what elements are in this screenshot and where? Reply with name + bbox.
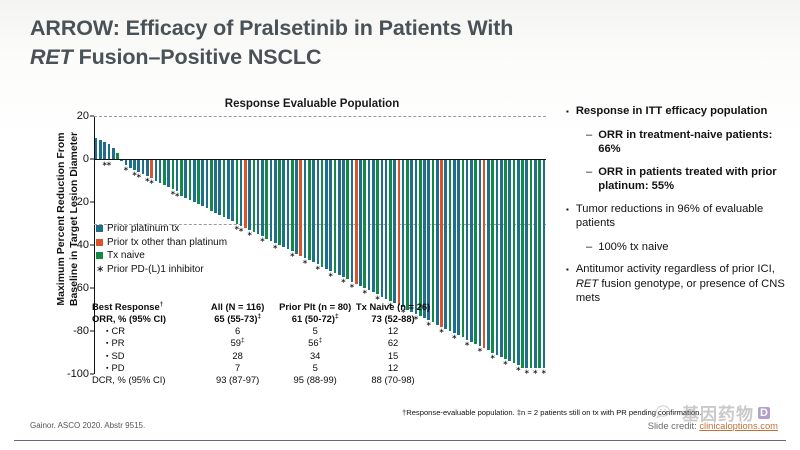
waterfall-bar (423, 159, 426, 318)
waterfall-bar (346, 159, 349, 279)
table-cell: 6 (199, 325, 276, 337)
table-cell: 59‡ (199, 337, 276, 349)
bullet-square-icon: ▪ (106, 328, 108, 335)
legend-label: Prior tx other than platinum (107, 236, 227, 250)
waterfall-bar (295, 159, 298, 254)
bullet-square-icon: ▪ (566, 104, 569, 119)
table-row: DCR, % (95% CI)93 (87-97)95 (88-99)88 (7… (92, 374, 432, 386)
waterfall-bar (355, 159, 358, 284)
waterfall-bar (483, 159, 486, 348)
legend-item-1: Prior tx other than platinum (96, 236, 227, 250)
waterfall-bar (530, 159, 533, 368)
waterfall-bar (521, 159, 524, 368)
cell-footnote-marker: ‡ (319, 337, 323, 344)
waterfall-bar (155, 159, 158, 181)
table-cell: 65 (55-73)‡ (199, 312, 276, 324)
bullet-square-icon: ▪ (106, 340, 108, 347)
table-cell: 73 (52-88) (354, 312, 432, 324)
waterfall-bar (496, 159, 499, 355)
waterfall-bar (474, 159, 477, 344)
bullet-text: Antitumor activity regardless of prior I… (576, 262, 790, 306)
table-cell: 61 (50-72)‡ (276, 312, 354, 324)
waterfall-bar (99, 140, 102, 159)
table-header-cell: All (N = 116) (199, 300, 276, 312)
reference-line-20 (94, 116, 546, 117)
table-row-label: DCR, % (95% CI) (92, 374, 199, 386)
waterfall-bar (103, 142, 106, 159)
slide-credit: Slide credit: clinicaloptions.com (648, 420, 778, 431)
citation-text: Gainor. ASCO 2020. Abstr 9515. (30, 421, 145, 430)
bullet-gene-name: RET (576, 278, 598, 290)
waterfall-bar (432, 159, 435, 322)
waterfall-bar (317, 159, 320, 264)
y-axis-tick--60: -60 (73, 282, 89, 294)
waterfall-bar (236, 159, 239, 224)
waterfall-bar (444, 159, 447, 329)
table-cell: 62 (354, 337, 432, 349)
bullet-item-2: –ORR in patients treated with prior plat… (586, 165, 790, 194)
bullet-dash-icon: – (586, 128, 592, 157)
waterfall-bar (308, 159, 311, 260)
waterfall-bar (282, 159, 285, 247)
wechat-icon (656, 404, 678, 422)
bullet-item-1: –ORR in treatment-naive patients: 66% (586, 128, 790, 157)
y-axis-tick--100: -100 (67, 368, 89, 380)
y-axis-tick--80: -80 (73, 325, 89, 337)
waterfall-bar (385, 159, 388, 299)
waterfall-bar (376, 159, 379, 294)
waterfall-bar (491, 159, 494, 353)
bullet-dash-icon: – (586, 165, 592, 194)
table-header-row: Best Response†All (N = 116)Prior Plt (n … (92, 300, 432, 312)
waterfall-bar (240, 159, 243, 226)
waterfall-bar (206, 159, 209, 208)
title-line-1: ARROW: Efficacy of Pralsetinib in Patien… (30, 14, 770, 43)
y-axis-label-line-1: Maximum Percent Reduction From (55, 132, 67, 305)
title-line-2: RET Fusion–Positive NSCLC (30, 43, 770, 72)
waterfall-bar (393, 159, 396, 303)
waterfall-bar (304, 159, 307, 258)
response-table: Best Response†All (N = 116)Prior Plt (n … (92, 300, 432, 386)
summary-bullets: ▪Response in ITT efficacy population–ORR… (566, 104, 790, 315)
legend-label: Prior platinum tx (107, 222, 179, 236)
slide-credit-url[interactable]: clinicaloptions.com (699, 420, 778, 431)
waterfall-bar (500, 159, 503, 357)
waterfall-bar (321, 159, 324, 267)
bullet-text: Tumor reductions in 96% of evaluable pat… (576, 202, 790, 231)
table-row-label: ▪CR (92, 325, 199, 337)
waterfall-bar (142, 159, 145, 174)
bullet-text: ORR in patients treated with prior plati… (598, 165, 790, 194)
watermark-badge: D (758, 407, 770, 419)
cell-footnote-marker: ‡ (257, 313, 261, 320)
table-cell: 95 (88-99) (276, 374, 354, 386)
chart-title: Response Evaluable Population (97, 98, 527, 110)
bullet-square-icon: ▪ (106, 365, 108, 372)
waterfall-bar (363, 159, 366, 288)
y-axis-tick-0: 0 (83, 153, 89, 165)
zero-axis-line (94, 159, 546, 160)
waterfall-bar (223, 159, 226, 217)
cell-footnote-marker: ‡ (335, 313, 339, 320)
waterfall-bar (543, 159, 546, 368)
waterfall-bar (525, 159, 528, 368)
waterfall-bar (227, 159, 230, 219)
table-header-cell: Tx Naive (n = 26) (354, 300, 432, 312)
waterfall-bar (244, 159, 247, 228)
table-cell: 5 (276, 361, 354, 373)
waterfall-bar (504, 159, 507, 359)
waterfall-bar (146, 159, 149, 176)
bullet-item-5: ▪Antitumor activity regardless of prior … (566, 262, 790, 306)
title-gene-name: RET (30, 45, 73, 69)
waterfall-bar (534, 159, 537, 368)
prior-pd-l1-marker: ∗ (541, 369, 547, 376)
waterfall-bar (449, 159, 452, 331)
table-cell: 93 (87-97) (199, 374, 276, 386)
waterfall-bar (184, 159, 187, 198)
waterfall-bar (440, 159, 443, 327)
waterfall-bar (214, 159, 217, 213)
waterfall-bar (508, 159, 511, 361)
waterfall-bar (274, 159, 277, 243)
legend-swatch-icon (96, 252, 103, 259)
prior-pd-l1-marker: ∗ (106, 161, 112, 168)
waterfall-bar (159, 159, 162, 183)
table-header-cell: Prior Plt (n = 80) (276, 300, 354, 312)
legend-asterisk-icon: ∗ (96, 263, 103, 277)
waterfall-bar (410, 159, 413, 312)
y-axis-label: Maximum Percent Reduction From Baseline … (55, 104, 81, 334)
bullet-item-3: ▪Tumor reductions in 96% of evaluable pa… (566, 202, 790, 231)
waterfall-bar (265, 159, 268, 239)
waterfall-bar (167, 159, 170, 187)
waterfall-bar (517, 159, 520, 365)
waterfall-bar (470, 159, 473, 342)
waterfall-bar (419, 159, 422, 316)
table-row: ▪SD283415 (92, 349, 432, 361)
waterfall-bar (112, 148, 115, 159)
legend-swatch-icon (96, 239, 103, 246)
waterfall-bar (457, 159, 460, 335)
bullet-item-0: ▪Response in ITT efficacy population (566, 104, 790, 119)
legend-item-0: Prior platinum tx (96, 222, 227, 236)
waterfall-bar (163, 159, 166, 185)
table-row-label: ▪SD (92, 349, 199, 361)
table-cell: 56‡ (276, 337, 354, 349)
table-row: ▪CR6512 (92, 325, 432, 337)
waterfall-bar (453, 159, 456, 333)
page-title: ARROW: Efficacy of Pralsetinib in Patien… (30, 14, 770, 72)
waterfall-bar (372, 159, 375, 292)
table-row: ORR, % (95% CI)65 (55-73)‡61 (50-72)‡73 … (92, 312, 432, 324)
waterfall-bar (197, 159, 200, 204)
waterfall-bar (248, 159, 251, 230)
table-cell: 12 (354, 361, 432, 373)
waterfall-bar (95, 138, 98, 160)
bullet-item-4: –100% tx naive (586, 240, 790, 254)
bullet-square-icon: ▪ (106, 353, 108, 360)
waterfall-bar (436, 159, 439, 325)
table-row-label: ORR, % (95% CI) (92, 312, 199, 324)
waterfall-bar (299, 159, 302, 256)
bullet-square-icon: ▪ (566, 202, 569, 231)
table-cell: 34 (276, 349, 354, 361)
waterfall-bar (193, 159, 196, 202)
header-footnote-marker: † (160, 301, 164, 308)
legend-label: Tx naive (107, 249, 145, 263)
title-line-2-rest: Fusion–Positive NSCLC (73, 45, 322, 69)
waterfall-bar (253, 159, 256, 232)
table-cell: 5 (276, 325, 354, 337)
waterfall-bar (133, 159, 136, 170)
waterfall-bar (172, 159, 175, 189)
table-row: ▪PR59‡56‡62 (92, 337, 432, 349)
y-axis-tick--20: -20 (73, 196, 89, 208)
waterfall-bar (150, 159, 153, 178)
waterfall-bar (108, 144, 111, 159)
table-cell: 12 (354, 325, 432, 337)
prior-pd-l1-marker: ∗ (532, 369, 538, 376)
cell-footnote-marker: ‡ (241, 337, 245, 344)
waterfall-bar (462, 159, 465, 337)
bullet-text: Response in ITT efficacy population (576, 104, 767, 119)
table-cell: 28 (199, 349, 276, 361)
waterfall-bar (218, 159, 221, 215)
waterfall-bar (180, 159, 183, 196)
waterfall-bar (351, 159, 354, 282)
waterfall-bar (325, 159, 328, 269)
bullet-text: 100% tx naive (598, 240, 668, 254)
waterfall-bar (270, 159, 273, 241)
waterfall-bar (342, 159, 345, 277)
waterfall-bar (257, 159, 260, 234)
waterfall-bar (176, 159, 179, 191)
chart-legend: Prior platinum txPrior tx other than pla… (96, 222, 227, 276)
legend-swatch-icon (96, 225, 103, 232)
waterfall-bar (359, 159, 362, 286)
waterfall-bar (479, 159, 482, 346)
bullet-square-icon: ▪ (566, 262, 569, 306)
waterfall-bar (381, 159, 384, 297)
table-cell: 15 (354, 349, 432, 361)
waterfall-bar (334, 159, 337, 273)
waterfall-bar (231, 159, 234, 221)
waterfall-bar (538, 159, 541, 368)
waterfall-bar (406, 159, 409, 310)
waterfall-bar (189, 159, 192, 200)
slide-credit-prefix: Slide credit: (648, 420, 700, 431)
waterfall-bar (129, 159, 132, 168)
table-row-label: ▪PR (92, 337, 199, 349)
y-axis-label-line-2: Baseline in Target Lesion Diameter (68, 132, 80, 306)
waterfall-bar (415, 159, 418, 314)
bottom-divider (14, 440, 786, 442)
waterfall-bar (513, 159, 516, 363)
waterfall-bar (368, 159, 371, 290)
waterfall-bar (287, 159, 290, 249)
waterfall-bar (312, 159, 315, 262)
waterfall-bar (389, 159, 392, 301)
legend-item-2: Tx naive (96, 249, 227, 263)
y-axis-tick--40: -40 (73, 239, 89, 251)
waterfall-bar (402, 159, 405, 307)
waterfall-bar (466, 159, 469, 340)
waterfall-bar (278, 159, 281, 245)
legend-label: Prior PD-(L)1 inhibitor (107, 263, 204, 277)
table-row: ▪PD7512 (92, 361, 432, 373)
waterfall-bar (398, 159, 401, 305)
bullet-text: ORR in treatment-naive patients: 66% (598, 128, 790, 157)
legend-item-3: ∗Prior PD-(L)1 inhibitor (96, 263, 227, 277)
waterfall-bar (291, 159, 294, 251)
waterfall-bar (487, 159, 490, 350)
bullet-dash-icon: – (586, 240, 592, 254)
y-axis-tick-20: 20 (77, 110, 89, 122)
table-row-label: ▪PD (92, 361, 199, 373)
waterfall-bar (329, 159, 332, 271)
waterfall-bar (261, 159, 264, 236)
table-body: Best Response†All (N = 116)Prior Plt (n … (92, 300, 432, 386)
waterfall-bar (137, 159, 140, 172)
waterfall-bar (427, 159, 430, 320)
prior-pd-l1-marker: ∗ (524, 369, 530, 376)
slide-canvas: ARROW: Efficacy of Pralsetinib in Patien… (0, 0, 800, 450)
table-header-cell: Best Response† (92, 300, 199, 312)
table-cell: 7 (199, 361, 276, 373)
waterfall-bar (201, 159, 204, 206)
table-cell: 88 (70-98) (354, 374, 432, 386)
waterfall-bar (338, 159, 341, 275)
waterfall-bar (210, 159, 213, 211)
